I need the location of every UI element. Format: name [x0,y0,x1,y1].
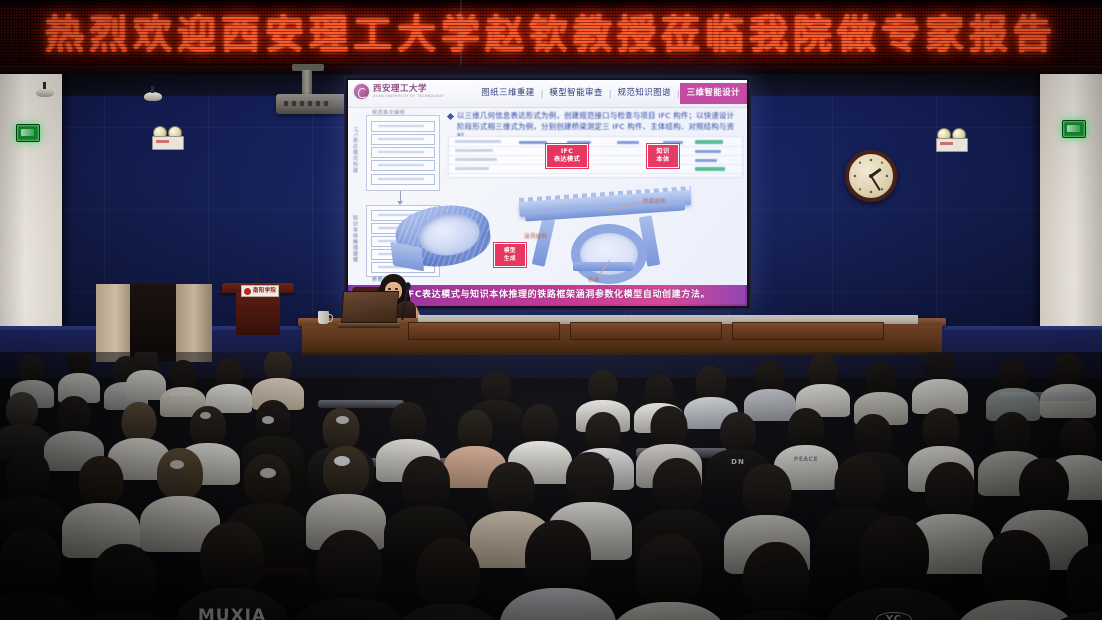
presenter-laptop [338,291,400,325]
exit-sign-icon [1062,120,1086,138]
led-panel-seam [460,0,462,74]
slide-tab-bar: 图纸三维重建 | 模型智能审查 | 规范知识图谱 | 三维智能设计 [475,83,747,104]
university-emblem-icon [354,84,369,99]
flowchart-group-1-label: IFC表达模式构建 [352,127,359,174]
audience-member: MUXIA [176,522,288,620]
audience-member [1040,544,1102,620]
audience-member [986,358,1040,420]
ceiling-spotlight-icon [144,92,162,101]
audience-member [610,534,728,620]
audience-member [796,354,850,416]
slide-data-table [448,136,743,178]
shirt-text: PEACE [794,456,818,463]
audience-member [392,538,504,620]
slide-content: 西安理工大学 XI'AN UNIVERSITY OF TECHNOLOGY 图纸… [348,80,747,306]
led-banner: 热烈欢迎西安理工大学赵钦教授莅临我院做专家报告 [0,0,1102,74]
audience-member [718,542,834,620]
audience-member [1040,354,1096,418]
flowchart-group-1 [366,115,440,191]
tab-knowledge-graph: 规范知识图谱 [611,83,676,104]
shirt-text: MUXIA [198,606,266,620]
university-logo: 西安理工大学 XI'AN UNIVERSITY OF TECHNOLOGY [354,84,444,99]
led-banner-text: 热烈欢迎西安理工大学赵钦教授莅临我院做专家报告 [0,11,1102,61]
callout-pier: 桥墩 [588,276,600,284]
audience-member [912,352,968,414]
university-name: 西安理工大学 [373,85,444,94]
wall-clock [845,150,897,202]
audience-member [290,530,408,620]
bullet-diamond-icon [447,113,454,120]
badge-ifc-schema: IFC表达模式 [546,144,588,168]
callout-bridge-structure: 桥梁结构 [643,197,666,205]
audience-member [500,520,616,620]
lectern: 南阳学院 [222,283,294,335]
audience-member [68,544,180,620]
tab-3d-intelligent-design: 三维智能设计 [680,83,747,104]
exit-sign-icon [16,124,40,142]
university-name-en: XI'AN UNIVERSITY OF TECHNOLOGY [373,94,444,99]
lecture-hall-photo: 热烈欢迎西安理工大学赵钦教授莅临我院做专家报告 [0,0,1102,620]
led-frame-top [0,0,1102,7]
emergency-light-icon [936,128,966,152]
emergency-light-icon [152,126,182,150]
slide-header: 西安理工大学 XI'AN UNIVERSITY OF TECHNOLOGY 图纸… [348,80,747,108]
tab-3d-reconstruction: 图纸三维重建 [475,83,540,104]
callout-culvert-structure: 涵洞结构 [524,232,547,240]
stage-column-left [96,284,132,362]
presenter-cup [318,311,329,324]
ceiling-spotlight-icon [36,88,54,97]
flowchart-group-2-label: 知识本体推理建模 [352,215,359,263]
stage-recess [130,284,178,362]
lectern-plate-text: 南阳学院 [253,288,276,295]
institution-seal-icon [244,288,251,295]
badge-knowledge-ontology: 知识本体 [647,144,679,168]
audience-area: BROOKLYN [0,352,1102,620]
tab-model-review: 模型智能审查 [543,83,608,104]
audience-member: YC ERAY [826,516,962,620]
lectern-plate: 南阳学院 [241,285,279,297]
ceiling-projector [276,84,348,114]
stage-column-right [176,284,212,362]
shirt-text: BROOKLYN [170,392,197,397]
model-culvert-tube [384,194,502,279]
led-frame-bottom [0,65,1102,74]
